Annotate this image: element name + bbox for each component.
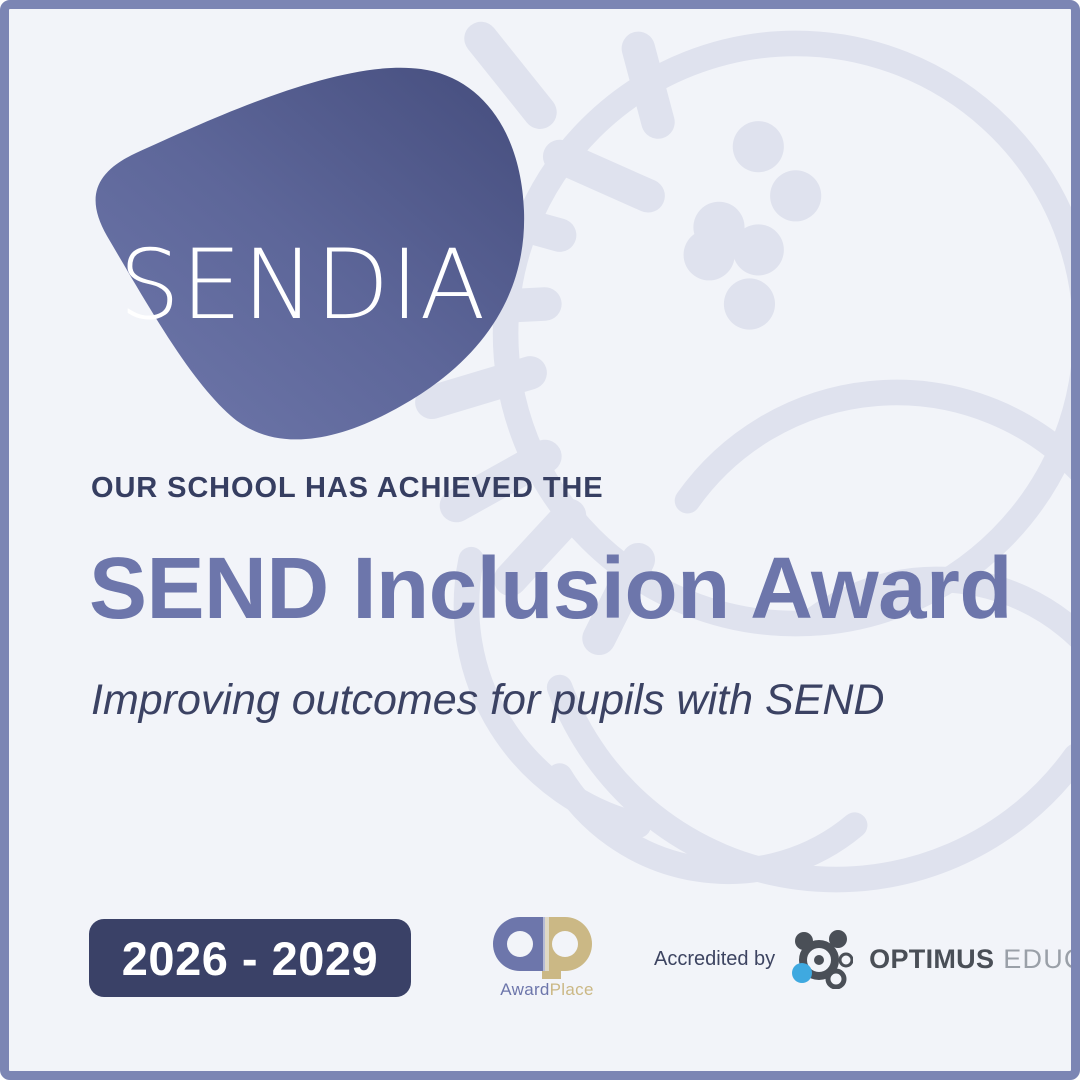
awardplace-logo: AwardPlace <box>487 909 607 1009</box>
optimus-brand-sub: EDUCATION <box>1003 944 1080 975</box>
validity-period-badge: 2026 - 2029 <box>89 919 411 997</box>
sendia-wordmark: SENDIA <box>119 237 519 333</box>
subtitle-text: Improving outcomes for pupils with SEND <box>91 675 884 727</box>
optimus-wordmark: OPTIMUS EDUCATION <box>869 944 1080 975</box>
awardplace-word-place: Place <box>550 980 594 999</box>
sendia-logo: SENDIA <box>81 61 541 451</box>
optimus-brand-name: OPTIMUS <box>869 944 994 975</box>
page-title: SEND Inclusion Award <box>89 543 1012 634</box>
validity-period-text: 2026 - 2029 <box>122 931 378 986</box>
optimus-node-icon <box>791 929 853 989</box>
footer-row: 2026 - 2029 AwardPlace Accredited by <box>9 901 1071 1071</box>
awardplace-word-award: Award <box>500 980 549 999</box>
accreditation-block: Accredited by OPTIMUS EDUCATION <box>654 929 1080 989</box>
awardplace-wordmark: AwardPlace <box>487 981 607 998</box>
awardplace-monogram-icon <box>487 909 603 979</box>
eyebrow-text: OUR SCHOOL HAS ACHIEVED THE <box>91 472 604 505</box>
accredited-by-label: Accredited by <box>654 948 775 971</box>
watermark-dots <box>684 121 822 329</box>
award-certificate-card: SENDIA OUR SCHOOL HAS ACHIEVED THE SEND … <box>0 0 1080 1080</box>
